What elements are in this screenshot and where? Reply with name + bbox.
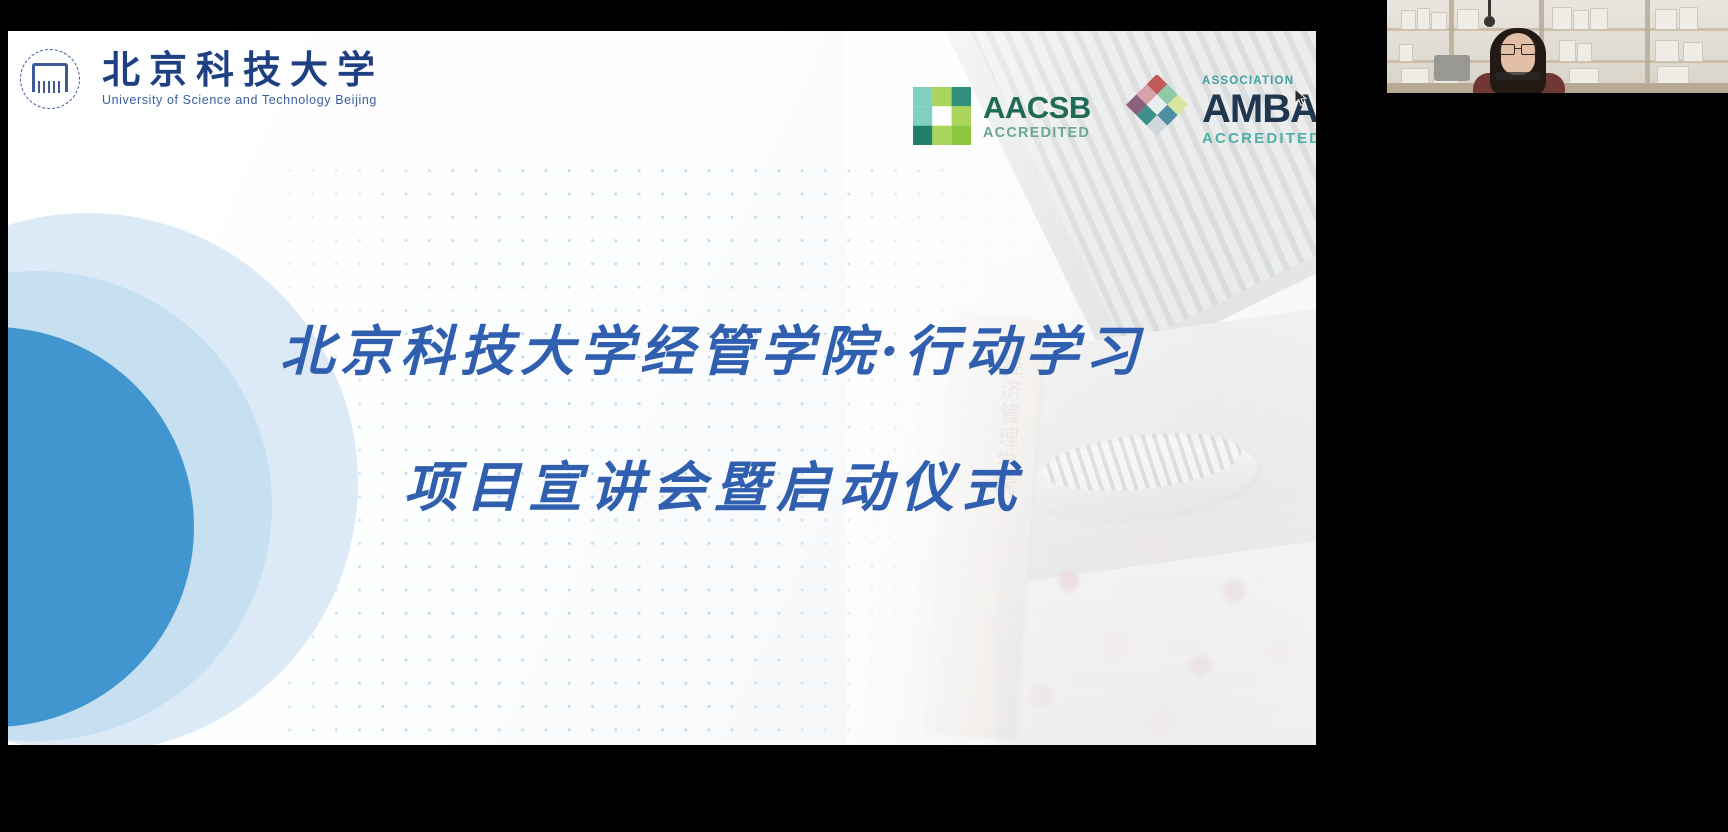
university-name-en: University of Science and Technology Bei… [102, 93, 384, 107]
shelf-item [1431, 12, 1447, 30]
slide-title-line-1: 北京科技大学经管学院·行动学习 [280, 307, 1145, 386]
eyeglass-lens-right [1521, 44, 1536, 55]
aacsb-text: AACSB ACCREDITED [983, 92, 1091, 141]
shelf-item [1655, 40, 1679, 62]
shelf-item [1590, 8, 1608, 30]
shelf-item [1399, 44, 1413, 62]
shelf-item [1559, 40, 1576, 62]
aacsb-mark-svg [913, 87, 971, 145]
pendant-lamp-icon [1484, 16, 1495, 27]
shelf-item [1552, 7, 1572, 30]
eyeglasses-icon [1500, 44, 1536, 53]
aacsb-logo: AACSB ACCREDITED [913, 87, 1091, 145]
storage-box [1434, 55, 1470, 81]
lamp-stem [1488, 0, 1491, 16]
participant-collar [1495, 72, 1541, 80]
presentation-slide[interactable]: 经济管理学院 北京科技大学 University of Science and … [8, 31, 1316, 745]
shelf-item [1679, 7, 1698, 30]
shelf-item [1417, 8, 1430, 30]
slide-title-line-2: 项目宣讲会暨启动仪式 [404, 443, 1024, 522]
aacsb-name: AACSB [983, 92, 1091, 123]
aacsb-square-mark-icon [913, 87, 971, 145]
shelf-item [1457, 9, 1479, 30]
amba-name: AMBA [1202, 89, 1316, 129]
eyeglass-lens-left [1500, 44, 1515, 55]
shelf-item [1577, 43, 1592, 62]
amba-logo: ASSOCIATION AMBA ACCREDITED [1118, 75, 1316, 147]
university-logo-text: 北京科技大学 University of Science and Technol… [102, 51, 384, 108]
shelf-item [1573, 10, 1589, 30]
amba-gem-svg [1118, 75, 1196, 147]
amba-gem-icon [1118, 75, 1196, 147]
university-logo: 北京科技大学 University of Science and Technol… [20, 49, 384, 109]
aacsb-accredited-label: ACCREDITED [983, 126, 1091, 141]
shelf-item [1683, 42, 1703, 62]
screen-root: 经济管理学院 北京科技大学 University of Science and … [0, 0, 1728, 832]
shelf-item [1401, 10, 1416, 30]
university-seal-icon [20, 49, 80, 109]
shelf-item [1655, 9, 1677, 30]
participant-video-thumbnail[interactable] [1387, 0, 1728, 93]
bookshelf-upright [1645, 0, 1650, 93]
amba-text: ASSOCIATION AMBA ACCREDITED [1202, 76, 1316, 146]
amba-accredited-label: ACCREDITED [1202, 131, 1316, 146]
university-name-cn: 北京科技大学 [102, 51, 384, 91]
